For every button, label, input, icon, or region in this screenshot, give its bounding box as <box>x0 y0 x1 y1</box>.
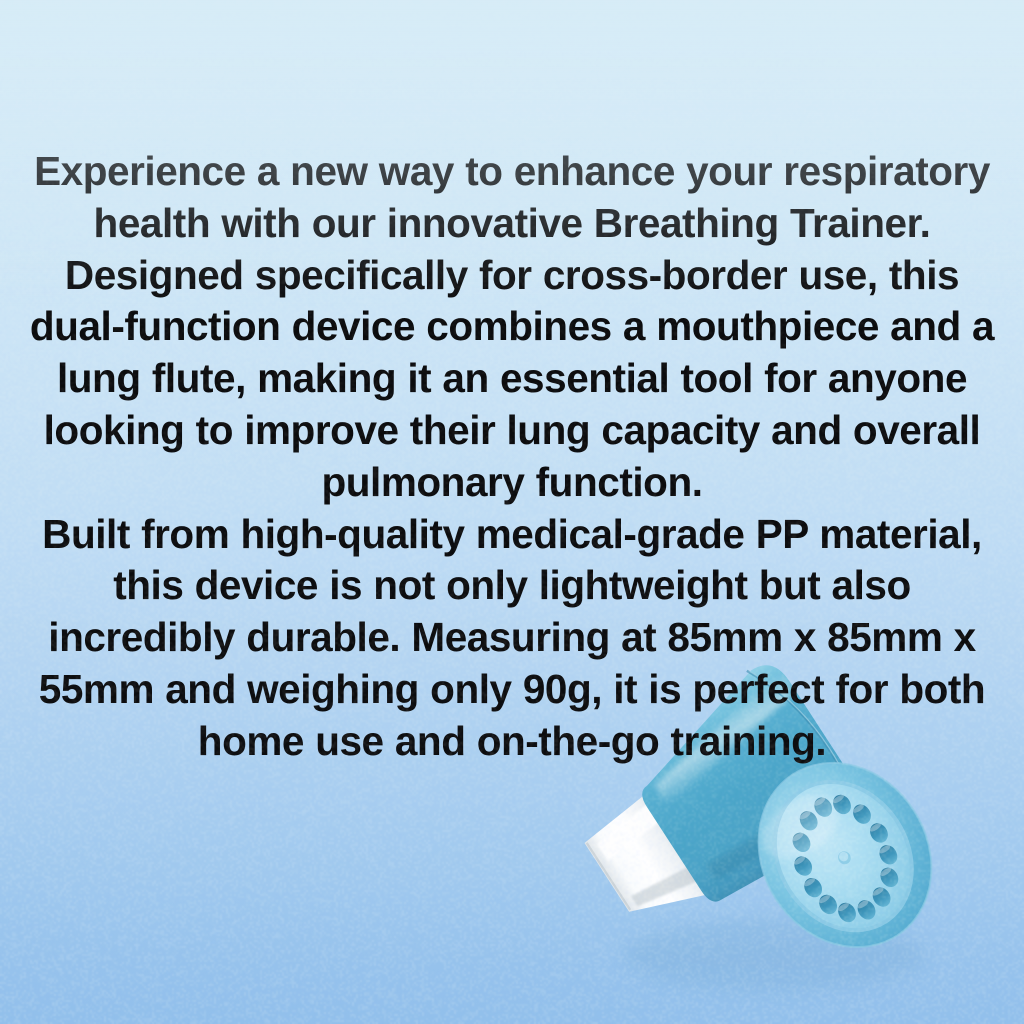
vent-holes <box>767 776 923 940</box>
device-shadow <box>625 919 925 991</box>
copy-line: dual-function device combines a mouthpie… <box>0 301 1024 353</box>
copy-line: looking to improve their lung capacity a… <box>0 405 1024 457</box>
copy-line: 55mm and weighing only 90g, it is perfec… <box>0 664 1024 716</box>
copy-line: home use and on-the-go training. <box>0 716 1024 768</box>
copy-line: incredibly durable. Measuring at 85mm x … <box>0 612 1024 664</box>
mouthpiece-tube <box>386 844 630 1024</box>
copy-line: Built from high-quality medical-grade PP… <box>0 509 1024 561</box>
copy-line: health with our innovative Breathing Tra… <box>0 198 1024 250</box>
copy-line: Experience a new way to enhance your res… <box>0 146 1024 198</box>
product-graphic-canvas: Experience a new way to enhance your res… <box>0 0 1024 1024</box>
center-dimple <box>836 849 854 867</box>
collar-ring <box>580 786 723 937</box>
copy-line: Designed specifically for cross-border u… <box>0 250 1024 302</box>
copy-line: pulmonary function. <box>0 457 1024 509</box>
copy-line: this device is not only lightweight but … <box>0 560 1024 612</box>
copy-line: lung flute, making it an essential tool … <box>0 353 1024 405</box>
marketing-copy: Experience a new way to enhance your res… <box>0 146 1024 768</box>
